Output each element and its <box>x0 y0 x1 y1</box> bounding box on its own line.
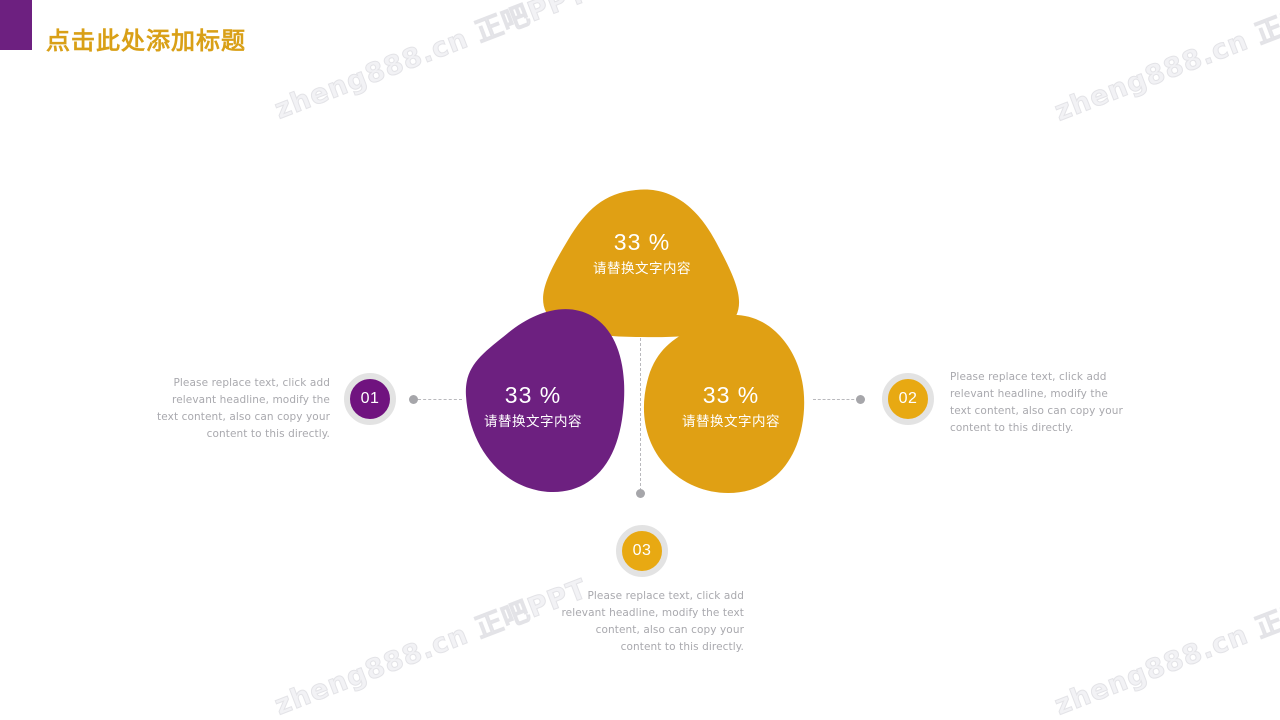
item-01-body[interactable]: Please replace text, click add relevant … <box>150 375 330 443</box>
triad-blob-diagram <box>440 170 840 520</box>
watermark-bottom-left: zheng888.cn 正吧PPT <box>268 567 592 720</box>
watermark-top-left: zheng888.cn 正吧PPT <box>268 0 592 126</box>
badge-03[interactable]: 03 <box>616 525 668 577</box>
watermark-top-right: zheng888.cn 正吧PPT <box>1048 0 1280 128</box>
item-02-body[interactable]: Please replace text, click add relevant … <box>950 369 1132 437</box>
badge-03-number: 03 <box>633 543 652 559</box>
badge-01-number: 01 <box>361 391 380 407</box>
connector-dot-left <box>409 395 418 404</box>
blob-right-shape <box>644 315 804 493</box>
badge-01[interactable]: 01 <box>344 373 396 425</box>
title-accent-bar <box>0 0 32 50</box>
watermark-bottom-right: zheng888.cn 正吧PPT <box>1048 567 1280 720</box>
item-03-body[interactable]: Please replace text, click add relevant … <box>552 588 744 656</box>
blob-left-shape <box>466 309 624 492</box>
badge-02[interactable]: 02 <box>882 373 934 425</box>
badge-02-number: 02 <box>899 391 918 407</box>
page-title[interactable]: 点击此处添加标题 <box>46 24 246 58</box>
connector-dot-right <box>856 395 865 404</box>
slide-canvas: zheng888.cn 正吧PPT zheng888.cn 正吧PPT zhen… <box>0 0 1280 720</box>
